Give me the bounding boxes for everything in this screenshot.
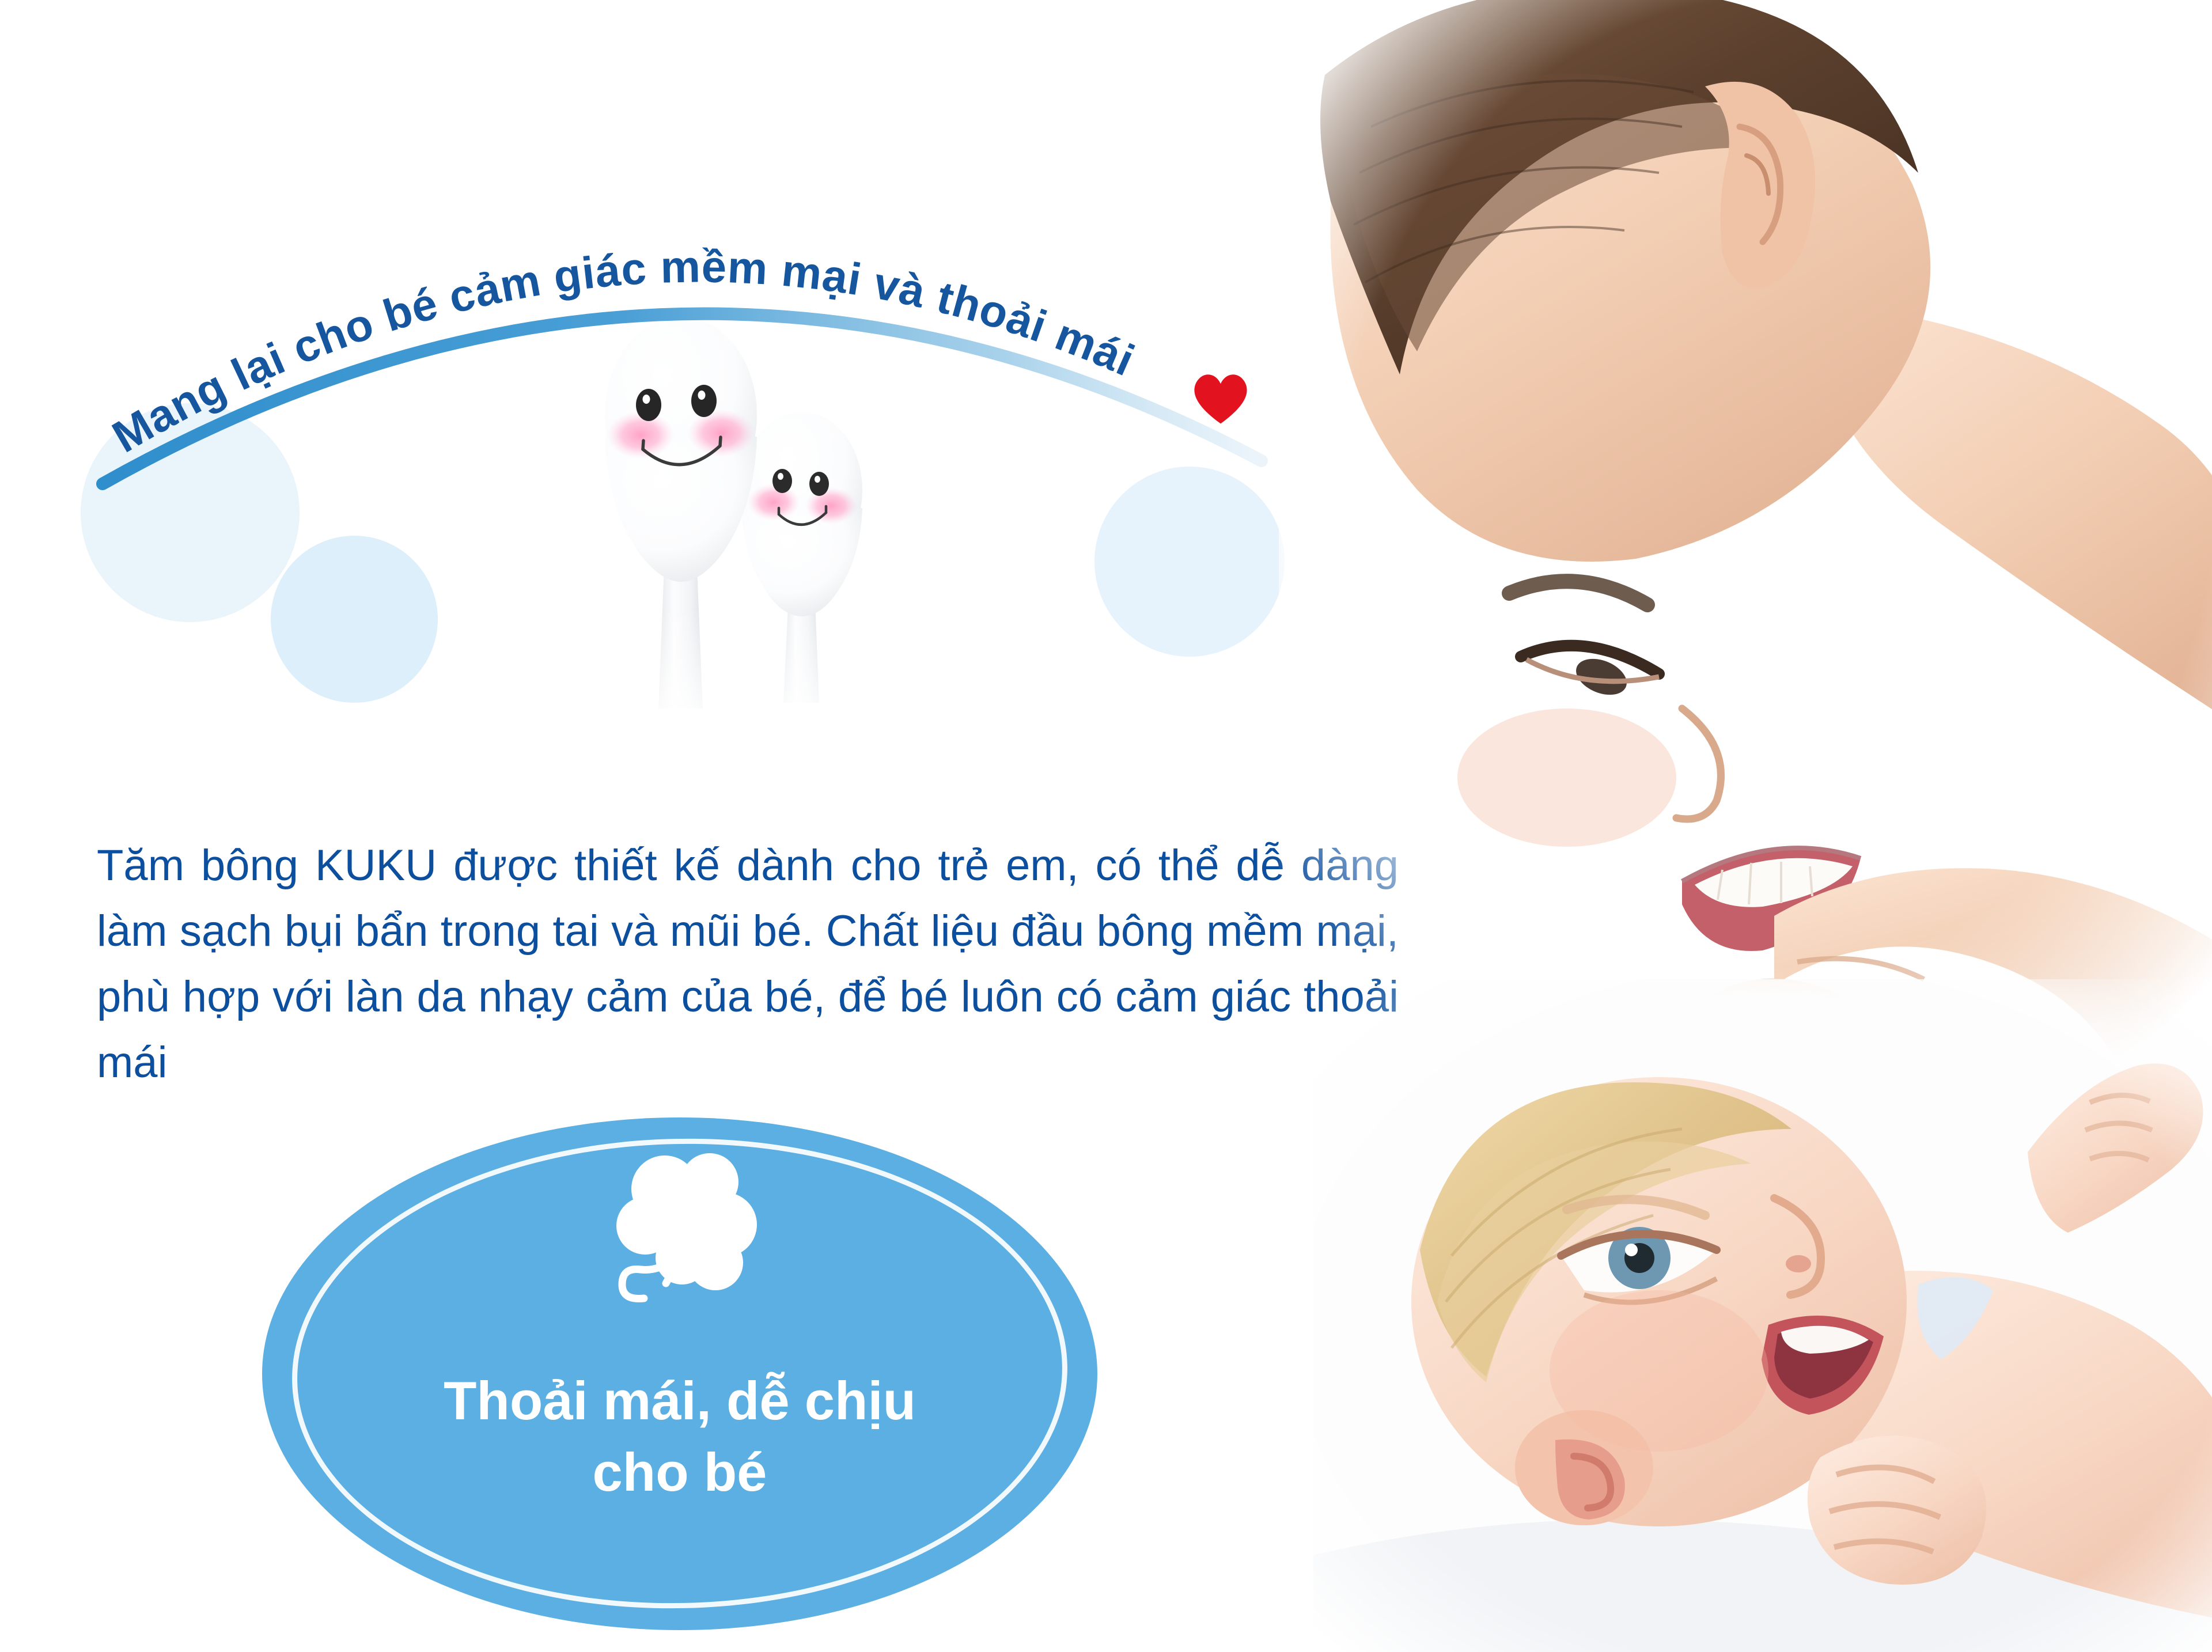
decorative-bubble-medium (271, 536, 438, 703)
badge-caption: Thoải mái, dễ chịu cho bé (262, 1365, 1097, 1508)
heart-icon (1190, 369, 1252, 426)
product-description-paragraph: Tăm bông KUKU được thiết kế dành cho trẻ… (97, 833, 1399, 1161)
badge-caption-line-2: cho bé (262, 1437, 1097, 1508)
mother-photo (1279, 0, 2212, 1066)
baby-photo (1313, 979, 2212, 1652)
badge-caption-line-1: Thoải mái, dễ chịu (262, 1365, 1097, 1437)
product-infographic-page: Mang lại cho bé cảm giác mềm mại và thoả… (0, 0, 2212, 1652)
decorative-bubble-small (1094, 467, 1285, 657)
cotton-boll-icon (597, 1139, 770, 1329)
feature-badge-oval: Thoải mái, dễ chịu cho bé (262, 1117, 1097, 1630)
headline-banner: Mang lại cho bé cảm giác mềm mại và thoả… (86, 190, 1273, 490)
